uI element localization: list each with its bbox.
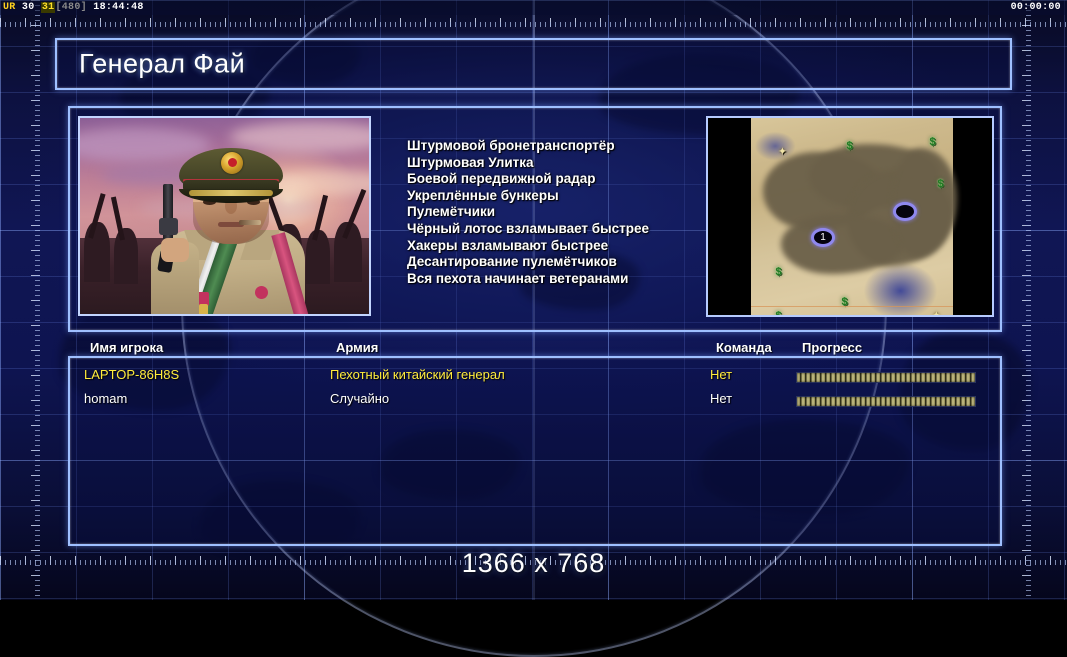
officer-cap-star [228,158,237,167]
ruler-top [0,18,1067,31]
osd-resolution-tag: [480] [55,2,87,13]
start-position-label: 1 [814,231,832,244]
column-header-army: Армия [336,340,378,355]
ability-item: Штурмовая Улитка [407,155,737,172]
ability-item: Пулемётчики [407,204,737,221]
ability-item: Боевой передвижной радар [407,171,737,188]
supply-icon: $ [935,178,946,190]
ability-item: Штурмовой бронетранспортёр [407,138,737,155]
officer-hand [161,238,189,262]
officer-medal-gold [199,304,208,316]
player-team[interactable]: Нет [710,391,732,406]
tech-building-icon: ✦ [931,310,942,317]
start-position-label [896,205,914,218]
osd-left-group: UR 30 31[480] 18:44:48 [3,0,144,15]
column-header-progress: Прогресс [802,340,862,355]
player-progress-bar [796,396,976,407]
column-header-team: Команда [716,340,772,355]
officer-cigarette [239,220,261,225]
page-title: Генерал Фай [79,49,245,80]
osd-fps: 30 [22,2,35,13]
ability-item: Укреплённые бункеры [407,188,737,205]
osd-clock: 18:44:48 [93,2,143,13]
osd-label: UR [3,2,16,13]
start-position-marker[interactable] [893,202,917,221]
general-abilities-list: Штурмовой бронетранспортёр Штурмовая Ули… [407,138,737,287]
supply-icon: $ [927,136,938,148]
tech-building-icon: ✦ [777,146,788,158]
player-army[interactable]: Пехотный китайский генерал [330,367,505,382]
player-team[interactable]: Нет [710,367,732,382]
players-table-panel: LAPTOP-86H8S Пехотный китайский генерал … [68,356,1002,546]
general-figure [149,146,317,316]
player-progress-bar [796,372,976,383]
map-preview-image: $ $ $ $ $ $ ✦ ✦ 1 [751,118,953,317]
table-row[interactable]: homam Случайно Нет [70,391,1000,415]
osd-bar: UR 30 31[480] 18:44:48 00:00:00 [0,0,1067,15]
ability-item: Чёрный лотос взламывает быстрее [407,221,737,238]
general-info-panel: Штурмовой бронетранспортёр Штурмовая Ули… [68,106,1002,332]
revolver-cylinder [159,218,178,235]
ability-item: Хакеры взламывают быстрее [407,238,737,255]
resolution-label: 1366 x 768 [0,548,1067,579]
supply-icon: $ [844,140,855,152]
column-header-name: Имя игрока [90,340,163,355]
officer-cap-gold-braid [189,190,273,196]
player-army[interactable]: Случайно [330,391,389,406]
table-row[interactable]: LAPTOP-86H8S Пехотный китайский генерал … [70,367,1000,391]
ruler-right [1022,0,1035,600]
players-table-header: Имя игрока Армия Команда Прогресс [76,340,996,356]
supply-icon: $ [773,266,784,278]
ruler-left [31,0,44,600]
osd-timer: 00:00:00 [1011,0,1061,15]
officer-medal-star [255,286,268,299]
map-boundary-line [751,306,953,307]
supply-icon: $ [773,310,784,317]
osd-fps-alt: 31 [41,2,56,13]
player-name: LAPTOP-86H8S [84,367,179,382]
map-preview[interactable]: $ $ $ $ $ $ ✦ ✦ 1 [706,116,994,317]
general-portrait [78,116,371,316]
player-name: homam [84,391,127,406]
ability-item: Вся пехота начинает ветеранами [407,271,737,288]
start-position-marker[interactable]: 1 [811,228,835,247]
ability-item: Десантирование пулемётчиков [407,254,737,271]
title-panel: Генерал Фай [55,38,1012,90]
general-portrait-art [80,118,369,314]
